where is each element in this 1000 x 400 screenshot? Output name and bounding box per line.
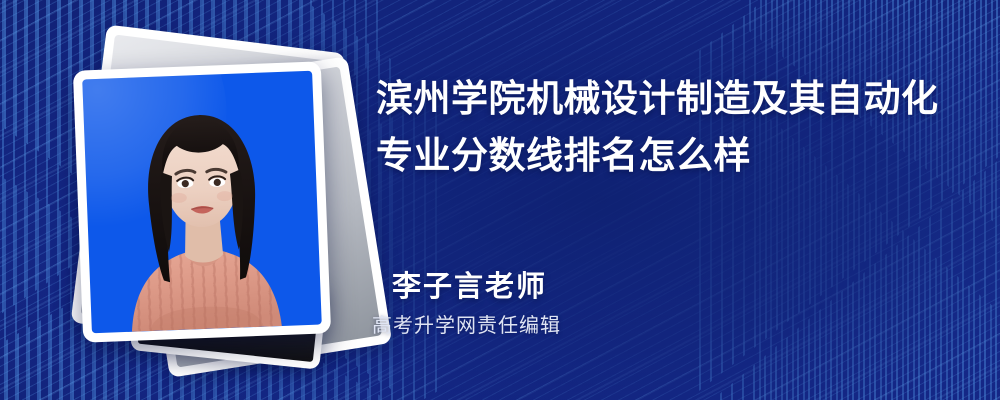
byline-block: 李子言老师 高考升学网责任编辑 — [392, 272, 561, 337]
headline-line-1: 滨州学院机械设计制造及其自动化 — [376, 70, 976, 127]
headline-block: 滨州学院机械设计制造及其自动化 专业分数线排名怎么样 — [376, 70, 976, 184]
author-portrait-photo — [82, 71, 322, 334]
author-name: 李子言老师 — [392, 272, 561, 304]
photo-stack — [60, 36, 350, 366]
headline-line-2: 专业分数线排名怎么样 — [376, 127, 976, 184]
author-role: 高考升学网责任编辑 — [372, 315, 561, 337]
article-cover-banner: 滨州学院机械设计制造及其自动化 专业分数线排名怎么样 李子言老师 高考升学网责任… — [0, 0, 1000, 400]
portrait-illustration — [82, 71, 322, 334]
author-photo-card — [73, 61, 331, 342]
